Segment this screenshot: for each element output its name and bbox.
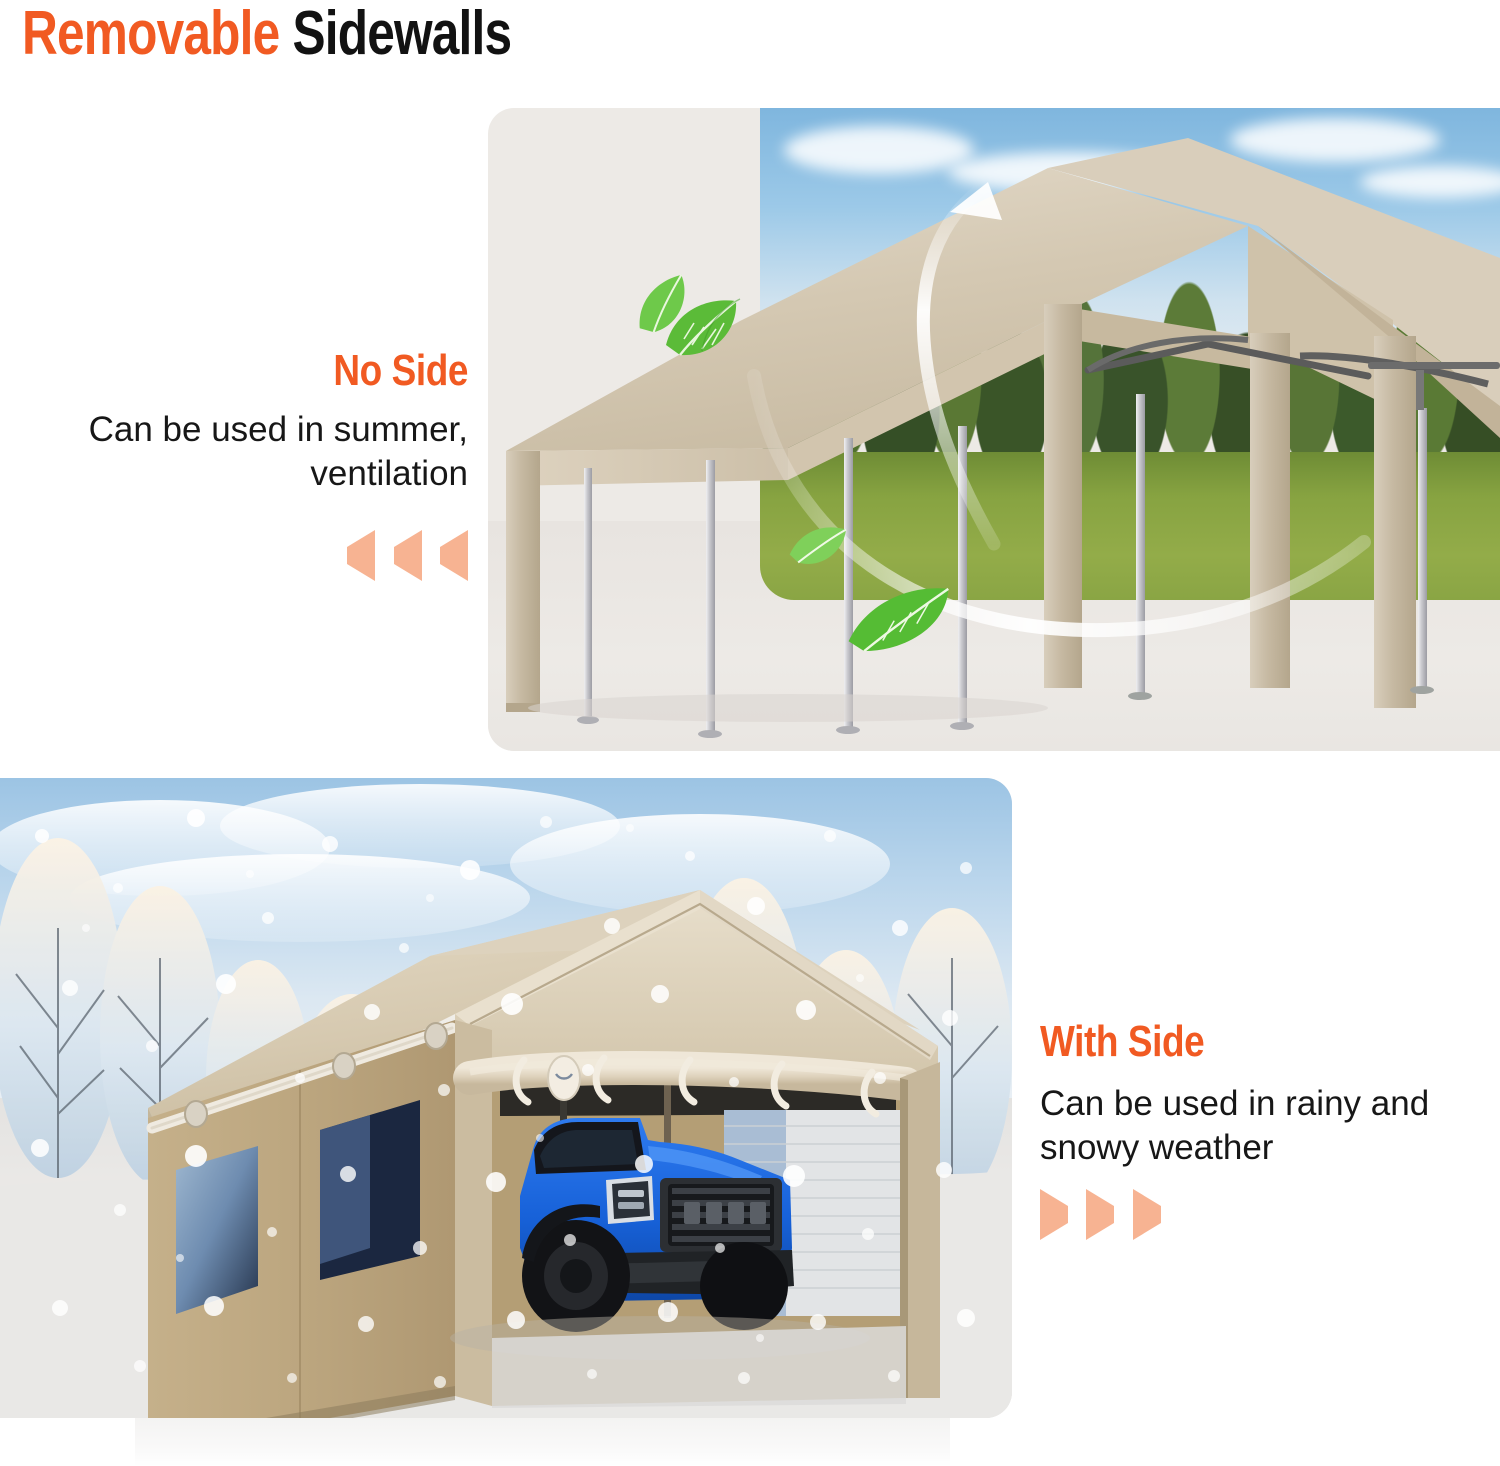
with-side-image-panel xyxy=(0,778,1012,1418)
with-side-kicker: With Side xyxy=(1040,1018,1410,1066)
no-side-description-line2: ventilation xyxy=(18,452,468,496)
no-side-image-panel xyxy=(488,108,1500,751)
no-side-copy-block: No Side Can be used in summer, ventilati… xyxy=(18,348,468,496)
with-side-description: Can be used in rainy and snowy weather xyxy=(1040,1082,1480,1170)
panel-reflection xyxy=(135,1418,950,1466)
carport-with-sidewalls-illustration xyxy=(0,778,1012,1418)
with-side-description-line1: Can be used in rainy and xyxy=(1040,1082,1480,1126)
with-side-description-line2: snowy weather xyxy=(1040,1126,1480,1170)
section-with-side: With Side Can be used in rainy and snowy… xyxy=(0,760,1500,1466)
carport-no-sidewalls-illustration xyxy=(488,108,1500,751)
section-no-side: No Side Can be used in summer, ventilati… xyxy=(0,0,1500,760)
no-side-kicker: No Side xyxy=(90,348,468,394)
no-side-description: Can be used in summer, ventilation xyxy=(18,408,468,496)
with-side-copy-block: With Side Can be used in rainy and snowy… xyxy=(1040,1018,1480,1170)
no-side-description-line1: Can be used in summer, xyxy=(18,408,468,452)
